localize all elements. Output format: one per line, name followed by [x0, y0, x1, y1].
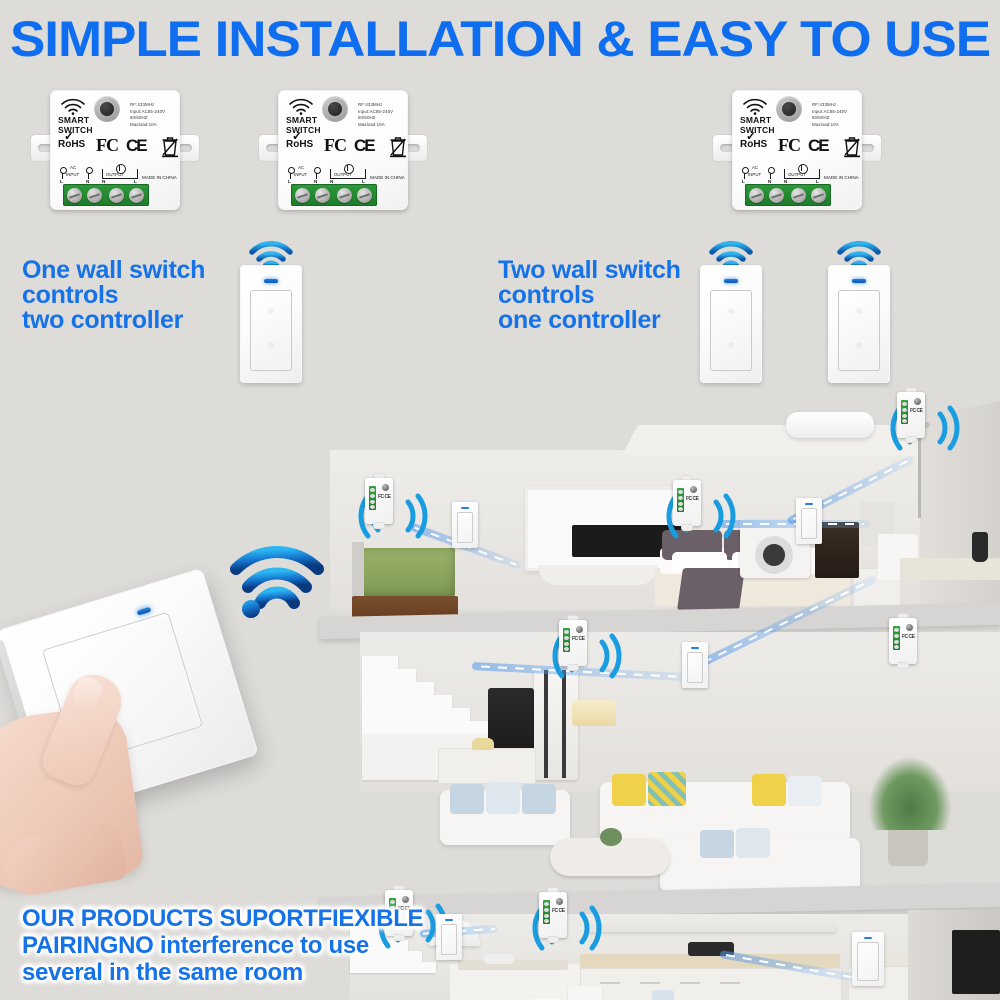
- screw-terminal-block: [291, 184, 377, 206]
- cushion-pattern: [648, 772, 686, 806]
- pairing-button[interactable]: [94, 96, 120, 122]
- module-body: SMARTSWITCH RF:433MHz Input:AC85-240V 50…: [50, 90, 180, 210]
- cushion-blue: [450, 784, 484, 814]
- module-button: [914, 398, 921, 405]
- stair-step: [362, 708, 470, 721]
- led-indicator: [724, 279, 738, 283]
- cabinet-handle: [600, 982, 620, 984]
- relay-module-mini: FC CE: [362, 478, 396, 524]
- module-body: SMARTSWITCH RF:433MHz Input:AC85-240V 50…: [732, 90, 862, 210]
- input-label: INPUT: [294, 172, 307, 177]
- module-button: [576, 626, 583, 633]
- bathroom-counter: [900, 558, 1000, 580]
- relay-module-mini: FC CE: [670, 480, 704, 526]
- stair-step: [362, 682, 434, 695]
- module-body: FC CE: [897, 392, 925, 438]
- module-body: SMARTSWITCH RF:433MHz Input:AC85-240V 50…: [278, 90, 408, 210]
- module-mount-tab: [898, 663, 908, 668]
- spec-text: RF:433MHz Input:AC85-240V 50/60HZ Maxloa…: [130, 102, 180, 128]
- module-mount-tab: [568, 665, 578, 670]
- relay-module-mini: FC CE: [556, 620, 590, 666]
- relay-module-mini: FC CE: [536, 892, 570, 938]
- module-marks: FC CE: [686, 496, 699, 502]
- relay-module-mini: FC CE: [886, 618, 920, 664]
- fcc-label: FC: [324, 135, 346, 156]
- fcc-label: FC: [778, 135, 800, 156]
- wall-switch-left[interactable]: [240, 265, 302, 383]
- cushion-light: [736, 828, 770, 858]
- wifi-icon: [742, 98, 768, 115]
- cabinet-handle: [680, 982, 700, 984]
- ce-label: CE: [808, 136, 828, 156]
- module-mount-tab: [682, 525, 692, 530]
- terminal-labels: L AC INPUT N N L OUTPUT MADE IN CHINA: [740, 166, 858, 184]
- made-in-label: MADE IN CHINA: [142, 175, 177, 180]
- relay-module-mini: FC CE: [894, 392, 928, 438]
- module-mount-tab: [374, 523, 384, 528]
- penguin-ornament: [972, 532, 988, 562]
- dark-appliance: [952, 930, 1000, 994]
- terminal-block: [369, 486, 376, 510]
- beam-dashes: [726, 523, 864, 525]
- washing-machine-door: [755, 536, 793, 574]
- air-conditioner: [786, 412, 874, 438]
- fcc-label: FC: [96, 135, 118, 156]
- made-in-label: MADE IN CHINA: [370, 175, 405, 180]
- weee-bin-icon: [160, 134, 180, 158]
- module-mount-tab: [906, 437, 916, 442]
- module-marks: FC CE: [902, 634, 915, 640]
- module-body: FC CE: [365, 478, 393, 524]
- cushion-light: [486, 782, 520, 814]
- module-marks: FC CE: [572, 636, 585, 642]
- module-body: FC CE: [673, 480, 701, 526]
- module-button: [382, 484, 389, 491]
- stair-step: [362, 656, 398, 669]
- relay-module-left[interactable]: SMARTSWITCH RF:433MHz Input:AC85-240V 50…: [30, 90, 200, 210]
- cushion-yellow: [752, 774, 786, 806]
- hand-holding-switch: [0, 545, 330, 875]
- cushion-blue: [522, 784, 556, 814]
- certification-marks: ✓ RoHS FC CE: [58, 136, 176, 162]
- rocker-button[interactable]: [710, 290, 752, 371]
- rohs-label: RoHS: [740, 139, 767, 150]
- screw-terminal-block: [745, 184, 831, 206]
- certification-marks: ✓ RoHS FC CE: [286, 136, 404, 162]
- fridge-handle: [544, 670, 548, 778]
- bed-lower-panel: [538, 565, 658, 585]
- rocker-button[interactable]: [838, 290, 880, 371]
- terminal-labels: L AC INPUT N N L OUTPUT MADE IN CHINA: [286, 166, 404, 184]
- wifi-icon: [60, 98, 86, 115]
- water-pitcher: [652, 990, 674, 1000]
- module-marks: FC CE: [378, 494, 391, 500]
- module-body: FC CE: [889, 618, 917, 664]
- floor-lamp-shade: [572, 700, 616, 726]
- weee-bin-icon: [388, 134, 408, 158]
- module-body: FC CE: [539, 892, 567, 938]
- cushion-light: [788, 776, 822, 806]
- cushion-blue: [700, 830, 734, 858]
- fridge-handle: [562, 670, 566, 778]
- cabinet-handle: [640, 982, 660, 984]
- rohs-label: RoHS: [286, 139, 313, 150]
- rohs-label: RoHS: [58, 139, 85, 150]
- made-in-label: MADE IN CHINA: [824, 175, 859, 180]
- terminal-block: [677, 488, 684, 512]
- wall-switch-right-two[interactable]: [828, 265, 890, 383]
- module-button: [690, 486, 697, 493]
- output-label: OUTPUT: [334, 172, 352, 177]
- terminal-block: [563, 628, 570, 652]
- module-body: FC CE: [559, 620, 587, 666]
- terminal-block: [901, 400, 908, 424]
- product-infographic: SIMPLE INSTALLATION & EASY TO USE: [0, 0, 1000, 1000]
- ce-label: CE: [354, 136, 374, 156]
- terminal-block: [543, 900, 550, 924]
- page-title: SIMPLE INSTALLATION & EASY TO USE: [0, 8, 1000, 70]
- in-scene-wall-switch[interactable]: [682, 642, 708, 688]
- stair-step: [362, 695, 452, 708]
- module-button: [402, 896, 409, 903]
- wifi-icon: [230, 545, 326, 621]
- output-label: OUTPUT: [106, 172, 124, 177]
- upper-shelf: [586, 924, 836, 932]
- wifi-icon: [288, 98, 314, 115]
- dining-chair: [568, 986, 602, 1000]
- pin-label: L: [60, 179, 63, 184]
- cabinet-handle: [720, 982, 740, 984]
- terminal-labels: L AC INPUT N N L OUTPUT MADE IN CHINA: [58, 166, 176, 184]
- module-mount-tab: [548, 937, 558, 942]
- in-scene-wall-switch[interactable]: [796, 498, 822, 544]
- aquarium-frame: [352, 542, 364, 598]
- led-indicator: [264, 279, 278, 283]
- footnote-text: OUR PRODUCTS SUPORTFIEXIBLE PAIRINGNO in…: [22, 905, 492, 986]
- in-scene-wall-switch[interactable]: [452, 502, 478, 548]
- relay-module-middle[interactable]: SMARTSWITCH RF:433MHz Input:AC85-240V 50…: [258, 90, 428, 210]
- cushion-yellow: [612, 774, 646, 806]
- relay-module-right[interactable]: SMARTSWITCH RF:433MHz Input:AC85-240V 50…: [712, 90, 882, 210]
- bed-throw-blanket: [677, 568, 745, 610]
- aquarium-tank: [355, 548, 455, 596]
- caption-one-switch-two-controllers: One wall switch controls two controller: [22, 258, 205, 333]
- ac-label: AC: [70, 165, 76, 170]
- table-plant: [600, 828, 622, 846]
- teapot: [472, 738, 494, 750]
- certification-marks: ✓ RoHS FC CE: [740, 136, 858, 162]
- wall-switch-right-one[interactable]: [700, 265, 762, 383]
- pin-label: L: [742, 179, 745, 184]
- screw-terminal-block: [63, 184, 149, 206]
- ac-label: AC: [298, 165, 304, 170]
- potted-plant-leaves: [868, 756, 952, 830]
- stair-step: [362, 669, 416, 682]
- module-marks: FC CE: [552, 908, 565, 914]
- spec-text: RF:433MHz Input:AC85-240V 50/60HZ Maxloa…: [358, 102, 408, 128]
- caption-two-switches-one-controller: Two wall switch controls one controller: [498, 258, 681, 333]
- module-marks: FC CE: [910, 408, 923, 414]
- output-label: OUTPUT: [788, 172, 806, 177]
- input-label: INPUT: [748, 172, 761, 177]
- rocker-button[interactable]: [250, 290, 292, 371]
- sideboard: [438, 748, 536, 784]
- pairing-button[interactable]: [776, 96, 802, 122]
- module-button: [556, 898, 563, 905]
- weee-bin-icon: [842, 134, 862, 158]
- input-label: INPUT: [66, 172, 79, 177]
- module-button: [906, 624, 913, 631]
- in-scene-wall-switch[interactable]: [852, 932, 884, 986]
- led-indicator: [852, 279, 866, 283]
- pin-label: L: [288, 179, 291, 184]
- spec-text: RF:433MHz Input:AC85-240V 50/60HZ Maxloa…: [812, 102, 862, 128]
- terminal-block: [893, 626, 900, 650]
- ac-label: AC: [752, 165, 758, 170]
- pairing-button[interactable]: [322, 96, 348, 122]
- ce-label: CE: [126, 136, 146, 156]
- refrigerator-white: [534, 670, 578, 780]
- stair-step: [362, 721, 488, 734]
